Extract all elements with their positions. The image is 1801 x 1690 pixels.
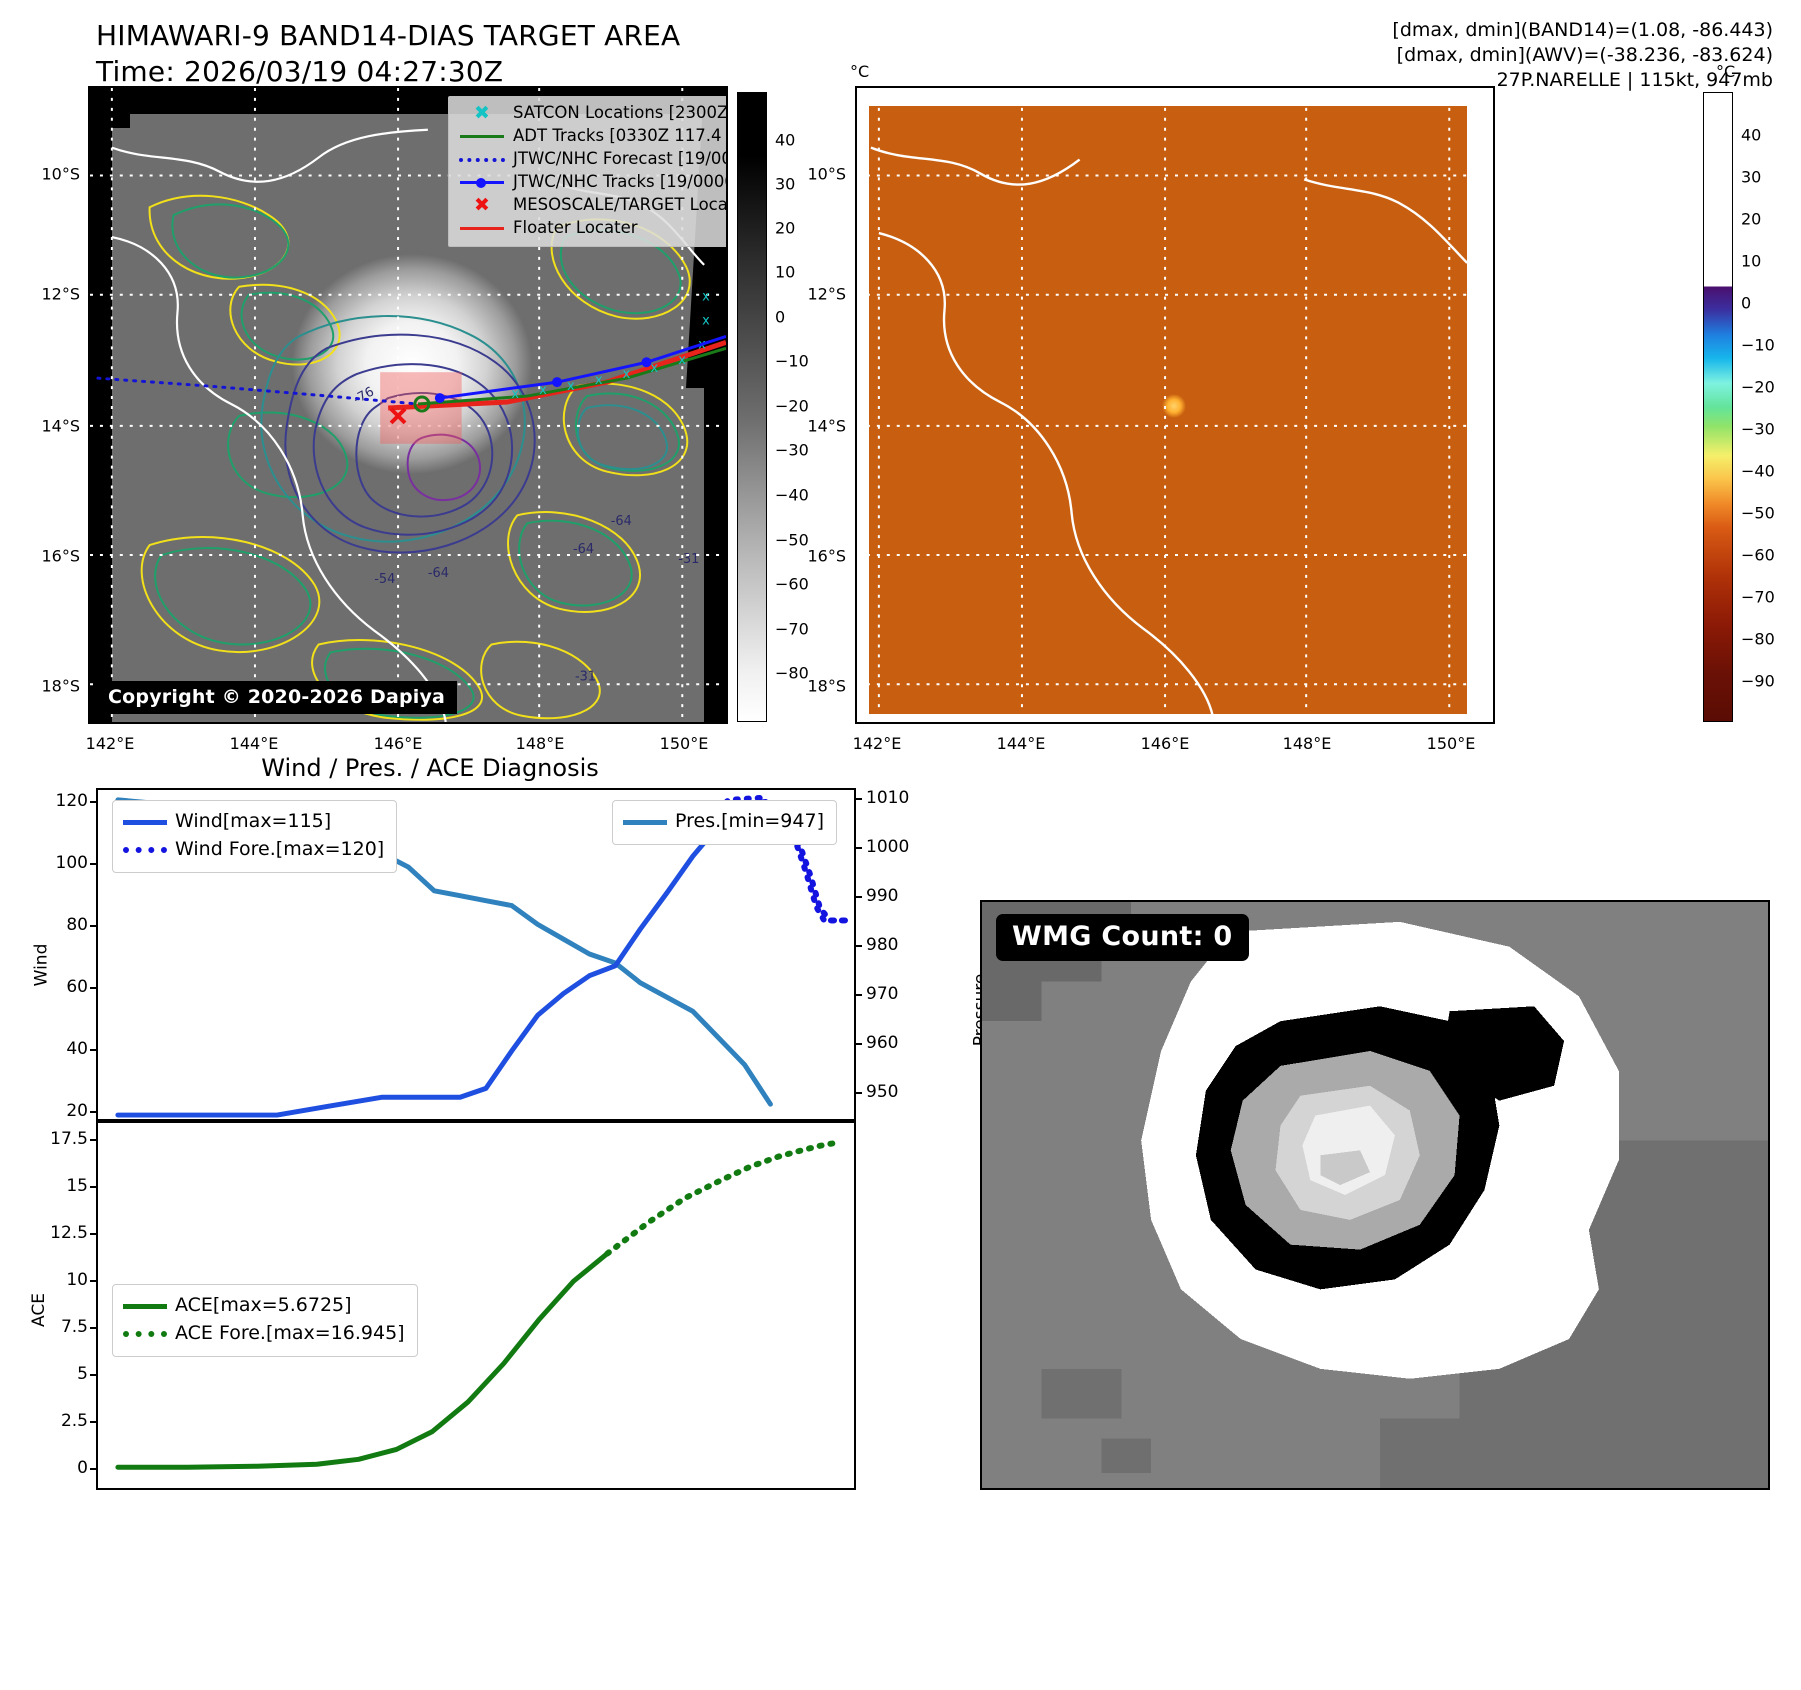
enh-cb-tick-8: −40 bbox=[1741, 462, 1775, 481]
ace-legend-label-observed: ACE[max=5.6725] bbox=[175, 1294, 352, 1317]
enh-cb-tick-6: −20 bbox=[1741, 378, 1775, 397]
x-marker-icon: ✖ bbox=[455, 104, 509, 123]
ace-ytick-7-5: 7.5 bbox=[61, 1317, 88, 1337]
enh-ytick-3: 16°S bbox=[786, 547, 846, 566]
title-line-2: Time: 2026/03/19 04:27:30Z bbox=[96, 54, 680, 90]
pres-ytick-960: 960 bbox=[866, 1033, 898, 1053]
wind-legend-row-observed: Wind[max=115] bbox=[123, 808, 384, 836]
ir-ytick-2: 14°S bbox=[20, 417, 80, 436]
copyright-notice: Copyright © 2020-2026 Dapiya bbox=[96, 681, 457, 714]
svg-text:x: x bbox=[623, 367, 631, 382]
wind-legend: Wind[max=115] Wind Fore.[max=120] bbox=[112, 800, 397, 873]
pres-ytick-950: 950 bbox=[866, 1082, 898, 1102]
enh-xtick-2: 146°E bbox=[1141, 734, 1190, 753]
enh-cb-tick-3: 10 bbox=[1741, 252, 1761, 271]
enhanced-overlay bbox=[857, 88, 1493, 722]
ir-cb-tick-0: 40 bbox=[775, 131, 795, 150]
wind-ytick-100: 100 bbox=[56, 853, 88, 873]
ir-image: -76 -64 -64 -54 -64 -31 -31 bbox=[90, 88, 726, 722]
enh-cb-tick-11: −70 bbox=[1741, 588, 1775, 607]
legend-row-floater: Floater Locater bbox=[455, 217, 726, 240]
ace-ytick-12-5: 12.5 bbox=[50, 1223, 88, 1243]
enh-cb-tick-12: −80 bbox=[1741, 630, 1775, 649]
legend-label-tracks: JTWC/NHC Tracks [19/0000Z] bbox=[509, 174, 726, 191]
line-with-dot-icon bbox=[455, 181, 509, 184]
ir-xtick-1: 144°E bbox=[230, 734, 279, 753]
dotted-line-icon bbox=[123, 847, 175, 853]
chart-title: Wind / Pres. / ACE Diagnosis bbox=[90, 754, 770, 782]
dmax-dmin-band14: [dmax, dmin](BAND14)=(1.08, -86.443) bbox=[1392, 18, 1773, 43]
wind-axis-label: Wind bbox=[31, 944, 51, 987]
enh-cb-tick-0: 40 bbox=[1741, 126, 1761, 145]
ir-ytick-3: 16°S bbox=[20, 547, 80, 566]
header-readouts: [dmax, dmin](BAND14)=(1.08, -86.443) [dm… bbox=[1392, 18, 1773, 93]
ace-ytick-5-0: 5 bbox=[77, 1364, 88, 1384]
pres-ytick-1000: 1000 bbox=[866, 837, 909, 857]
solid-line-red-icon bbox=[455, 227, 509, 230]
solid-line-icon bbox=[455, 135, 509, 138]
legend-row-adt: ADT Tracks [0330Z 117.4 944.7] bbox=[455, 125, 726, 148]
svg-text:x: x bbox=[595, 373, 603, 388]
enhanced-colorbar bbox=[1703, 92, 1733, 722]
legend-row-forecast: JTWC/NHC Forecast [19/0000Z] bbox=[455, 148, 726, 171]
svg-text:-64: -64 bbox=[611, 514, 632, 529]
wind-ytick-20: 20 bbox=[66, 1101, 88, 1121]
ir-target-area-panel[interactable]: -76 -64 -64 -54 -64 -31 -31 bbox=[88, 86, 728, 724]
legend-label-mesoscale: MESOSCALE/TARGET Location bbox=[509, 197, 726, 214]
ir-ytick-1: 12°S bbox=[20, 285, 80, 304]
pressure-legend-row: Pres.[min=947] bbox=[623, 808, 824, 836]
enh-xtick-4: 150°E bbox=[1427, 734, 1476, 753]
ir-xtick-2: 146°E bbox=[374, 734, 423, 753]
enh-cb-tick-2: 20 bbox=[1741, 210, 1761, 229]
ace-legend-row-observed: ACE[max=5.6725] bbox=[123, 1292, 405, 1320]
title-line-1: HIMAWARI-9 BAND14-DIAS TARGET AREA bbox=[96, 18, 680, 54]
enhanced-ir-image bbox=[857, 88, 1493, 722]
legend-row-mesoscale: ✖ MESOSCALE/TARGET Location bbox=[455, 194, 726, 217]
svg-text:x: x bbox=[650, 361, 658, 376]
enh-xtick-0: 142°E bbox=[853, 734, 902, 753]
wmg-image: WMG Count: 0 bbox=[982, 902, 1768, 1488]
enhanced-ir-panel[interactable] bbox=[855, 86, 1495, 724]
wind-legend-label-observed: Wind[max=115] bbox=[175, 810, 331, 833]
dotted-line-icon bbox=[455, 158, 509, 162]
ace-ytick-17-5: 17.5 bbox=[50, 1129, 88, 1149]
svg-text:x: x bbox=[567, 379, 575, 394]
pres-ytick-970: 970 bbox=[866, 984, 898, 1004]
ir-ytick-4: 18°S bbox=[20, 677, 80, 696]
ir-cb-tick-7: −30 bbox=[775, 441, 809, 460]
svg-text:-76: -76 bbox=[351, 384, 377, 407]
solid-line-icon bbox=[123, 820, 175, 825]
page-title: HIMAWARI-9 BAND14-DIAS TARGET AREA Time:… bbox=[96, 18, 680, 90]
svg-text:x: x bbox=[678, 353, 686, 368]
ir-ytick-0: 10°S bbox=[20, 165, 80, 184]
ace-ytick-2-5: 2.5 bbox=[61, 1411, 88, 1431]
wind-ytick-80: 80 bbox=[66, 915, 88, 935]
enh-cb-tick-5: −10 bbox=[1741, 336, 1775, 355]
pres-ytick-980: 980 bbox=[866, 935, 898, 955]
legend-label-forecast: JTWC/NHC Forecast [19/0000Z] bbox=[509, 151, 726, 168]
ir-cb-tick-8: −40 bbox=[775, 486, 809, 505]
ir-cb-tick-4: 0 bbox=[775, 308, 785, 327]
ir-cb-tick-2: 20 bbox=[775, 219, 795, 238]
enh-ytick-0: 10°S bbox=[786, 165, 846, 184]
ir-cb-tick-11: −70 bbox=[775, 620, 809, 639]
ir-cb-tick-10: −60 bbox=[775, 575, 809, 594]
x-marker-red-icon: ✖ bbox=[455, 196, 509, 215]
ir-xtick-4: 150°E bbox=[660, 734, 709, 753]
enh-xtick-3: 148°E bbox=[1283, 734, 1332, 753]
ir-cb-tick-5: −10 bbox=[775, 352, 809, 371]
wind-ytick-120: 120 bbox=[56, 791, 88, 811]
ace-ytick-0-0: 0 bbox=[77, 1458, 88, 1478]
svg-text:x: x bbox=[702, 314, 710, 329]
ir-xtick-3: 148°E bbox=[516, 734, 565, 753]
ir-colorbar-unit: °C bbox=[850, 62, 869, 81]
enh-ytick-4: 18°S bbox=[786, 677, 846, 696]
pres-ytick-990: 990 bbox=[866, 886, 898, 906]
legend-label-floater: Floater Locater bbox=[509, 220, 638, 237]
screenshot-root: HIMAWARI-9 BAND14-DIAS TARGET AREA Time:… bbox=[0, 0, 1801, 1690]
wind-legend-label-forecast: Wind Fore.[max=120] bbox=[175, 838, 384, 861]
legend-row-tracks: JTWC/NHC Tracks [19/0000Z] bbox=[455, 171, 726, 194]
enh-xtick-1: 144°E bbox=[997, 734, 1046, 753]
enh-cb-tick-1: 30 bbox=[1741, 168, 1761, 187]
enh-cb-tick-10: −60 bbox=[1741, 546, 1775, 565]
enh-cb-tick-9: −50 bbox=[1741, 504, 1775, 523]
ir-cb-tick-3: 10 bbox=[775, 263, 795, 282]
pressure-legend-label: Pres.[min=947] bbox=[675, 810, 824, 833]
pressure-legend: Pres.[min=947] bbox=[612, 800, 837, 845]
ace-legend-row-forecast: ACE Fore.[max=16.945] bbox=[123, 1320, 405, 1348]
wmg-panel[interactable]: WMG Count: 0 bbox=[980, 900, 1770, 1490]
svg-text:-54: -54 bbox=[374, 572, 395, 587]
enh-colorbar-unit: °C bbox=[1716, 62, 1735, 81]
svg-text:-64: -64 bbox=[573, 542, 594, 557]
ir-cb-tick-6: −20 bbox=[775, 397, 809, 416]
enh-cb-tick-7: −30 bbox=[1741, 420, 1775, 439]
wind-legend-row-forecast: Wind Fore.[max=120] bbox=[123, 836, 384, 864]
legend-label-satcon: SATCON Locations [2300Z 122 944] bbox=[509, 105, 726, 122]
enh-cb-tick-4: 0 bbox=[1741, 294, 1751, 313]
wmg-cloud-cluster bbox=[982, 902, 1768, 1488]
svg-text:x: x bbox=[702, 290, 710, 305]
pres-ytick-1010: 1010 bbox=[866, 788, 909, 808]
ace-axis-label: ACE bbox=[29, 1293, 49, 1327]
enh-cb-tick-13: −90 bbox=[1741, 672, 1775, 691]
dotted-line-icon bbox=[123, 1331, 175, 1337]
wind-ytick-60: 60 bbox=[66, 977, 88, 997]
solid-line-icon bbox=[123, 1304, 175, 1309]
enh-ytick-2: 14°S bbox=[786, 417, 846, 436]
wmg-count-badge: WMG Count: 0 bbox=[996, 914, 1249, 961]
legend-label-adt: ADT Tracks [0330Z 117.4 944.7] bbox=[509, 128, 726, 145]
solid-line-icon bbox=[623, 820, 675, 825]
ace-legend-label-forecast: ACE Fore.[max=16.945] bbox=[175, 1322, 405, 1345]
ace-ytick-15-0: 15 bbox=[66, 1176, 88, 1196]
enh-ytick-1: 12°S bbox=[786, 285, 846, 304]
ir-xtick-0: 142°E bbox=[86, 734, 135, 753]
svg-text:-64: -64 bbox=[428, 566, 449, 581]
legend-row-satcon: ✖ SATCON Locations [2300Z 122 944] bbox=[455, 102, 726, 125]
wind-ytick-40: 40 bbox=[66, 1039, 88, 1059]
ir-legend: ✖ SATCON Locations [2300Z 122 944] ADT T… bbox=[448, 96, 726, 247]
ace-legend: ACE[max=5.6725] ACE Fore.[max=16.945] bbox=[112, 1284, 418, 1357]
ace-ytick-10-0: 10 bbox=[66, 1270, 88, 1290]
svg-text:-31: -31 bbox=[575, 669, 596, 684]
ir-colorbar bbox=[737, 92, 767, 722]
